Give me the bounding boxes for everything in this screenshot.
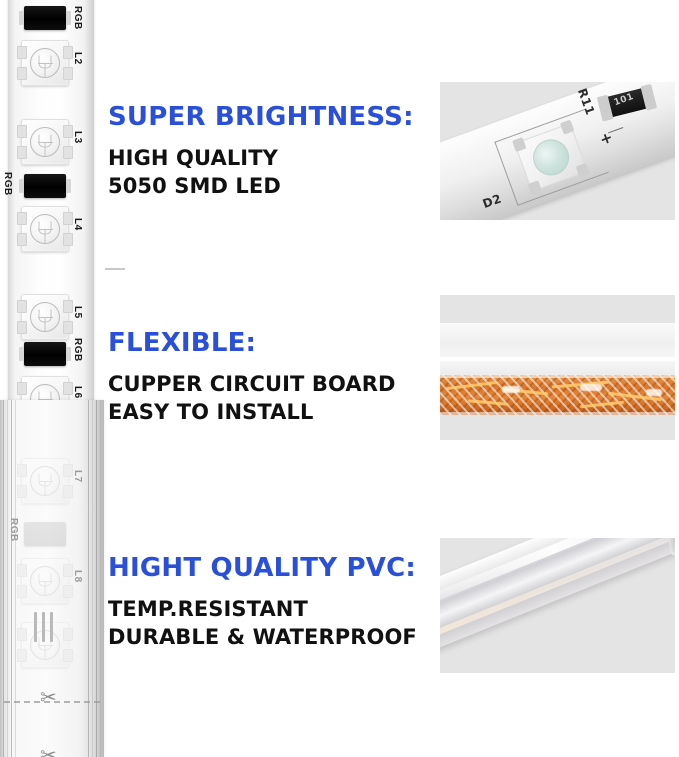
cut-line-marker: ✂	[4, 748, 100, 757]
feature-body-line: EASY TO INSTALL	[108, 399, 438, 427]
pvc-sleeve	[440, 323, 675, 415]
led-package	[21, 458, 69, 504]
pvc-sleeved-led-strip: L7 RGB L8 ✂ ✂	[0, 400, 104, 757]
pcb-board: R11 101 + D2	[440, 82, 675, 220]
silkscreen-d2: D2	[481, 191, 504, 211]
led-label-l4: L4	[72, 218, 82, 231]
led-label-l6: L6	[72, 386, 82, 399]
feature-heading: HIGHT QUALITY PVC:	[108, 555, 438, 582]
feature-heading: SUPER BRIGHTNESS:	[108, 104, 438, 131]
divider-dash	[105, 268, 125, 270]
copper-braid-photo	[440, 295, 675, 440]
led-strip-illustration: RGB L2 L3 RGB L4 L5 RGB	[0, 0, 108, 757]
feature-block-flexible: FLEXIBLE: CUPPER CIRCUIT BOARD EASY TO I…	[108, 330, 438, 427]
ic-label-rgb: RGB	[72, 6, 82, 30]
scissors-icon: ✂	[40, 746, 57, 757]
ic-label-rgb: RGB	[72, 338, 82, 362]
bare-led-strip: RGB L2 L3 RGB L4 L5 RGB	[8, 0, 94, 414]
feature-block-brightness: SUPER BRIGHTNESS: HIGH QUALITY 5050 SMD …	[108, 104, 438, 201]
led-label-l2: L2	[72, 52, 82, 65]
rgb-ic-chip	[24, 342, 66, 366]
feature-heading: FLEXIBLE:	[108, 330, 438, 357]
led-label-l7: L7	[72, 470, 82, 483]
feature-block-pvc: HIGHT QUALITY PVC: TEMP.RESISTANT DURABL…	[108, 555, 438, 652]
led-package	[21, 40, 69, 86]
led-package	[21, 294, 69, 340]
feature-body-line: DURABLE & WATERPROOF	[108, 624, 438, 652]
rgb-ic-chip	[24, 6, 66, 30]
rgb-ic-chip	[24, 522, 66, 546]
cut-line-marker: ✂	[4, 690, 100, 712]
feature-body-line: 5050 SMD LED	[108, 173, 438, 201]
scissors-icon: ✂	[40, 688, 57, 708]
led-package	[21, 558, 69, 604]
clear-pvc-tube	[440, 538, 675, 654]
led-label-l8: L8	[72, 570, 82, 583]
feature-body-line: HIGH QUALITY	[108, 145, 438, 173]
feature-body: HIGH QUALITY 5050 SMD LED	[108, 145, 438, 200]
solder-pads	[34, 612, 56, 642]
feature-body: CUPPER CIRCUIT BOARD EASY TO INSTALL	[108, 371, 438, 426]
led-package	[21, 206, 69, 252]
ic-label-rgb: RGB	[2, 172, 12, 196]
feature-body-line: CUPPER CIRCUIT BOARD	[108, 371, 438, 399]
copper-braid	[440, 375, 675, 415]
ic-label-rgb: RGB	[8, 518, 18, 542]
led-closeup-photo: R11 101 + D2	[440, 82, 675, 220]
led-label-l5: L5	[72, 306, 82, 319]
feature-body-line: TEMP.RESISTANT	[108, 596, 438, 624]
rgb-ic-chip	[24, 174, 66, 198]
pvc-tube-photo	[440, 538, 675, 673]
led-package	[21, 119, 69, 165]
led-label-l3: L3	[72, 131, 82, 144]
feature-body: TEMP.RESISTANT DURABLE & WATERPROOF	[108, 596, 438, 651]
